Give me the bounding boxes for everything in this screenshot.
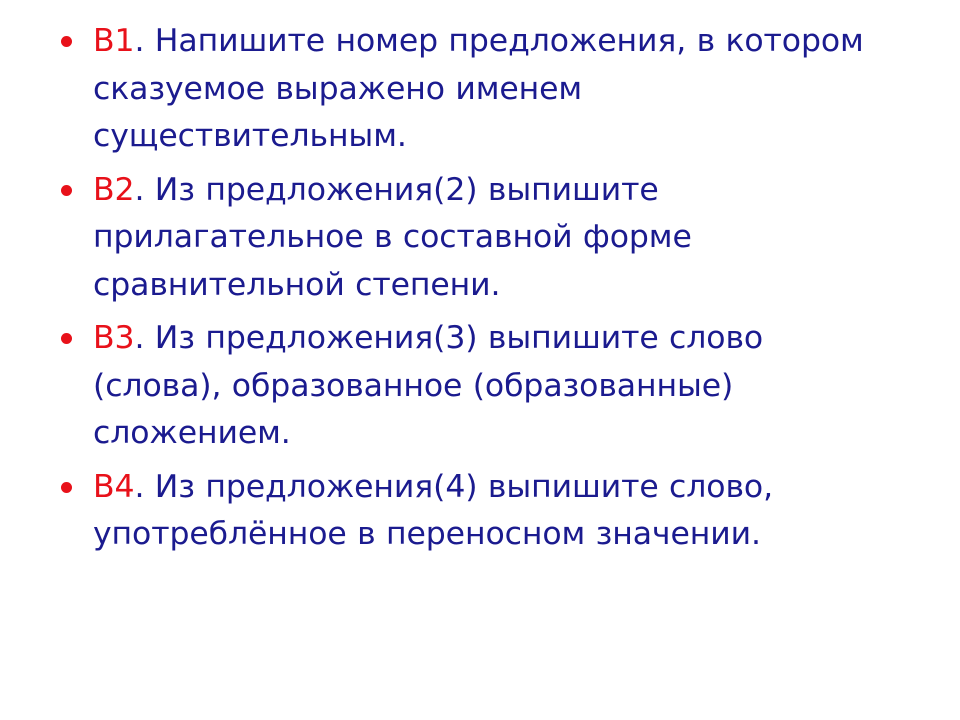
task-label-separator: . (134, 320, 144, 356)
list-item: B4. Из предложения(4) выпишите слово, уп… (46, 464, 883, 559)
task-label-b2: B2 (93, 172, 134, 208)
slide-canvas: B1. Напишите номер предложения, в которо… (0, 0, 960, 720)
task-label-b3: B3 (93, 320, 134, 356)
list-item: B2. Из предложения(2) выпишите прилагате… (46, 167, 883, 310)
round-bullet-icon (61, 185, 72, 196)
task-text-b4: Из предложения(4) выпишите слово, употре… (93, 469, 773, 553)
task-label-b1: B1 (93, 23, 134, 59)
round-bullet-icon (61, 36, 72, 47)
task-text-b2: Из предложения(2) выпишите прилагательно… (93, 172, 692, 303)
task-label-b4: B4 (93, 469, 134, 505)
task-label-separator: . (134, 469, 144, 505)
round-bullet-icon (61, 333, 72, 344)
task-text-b1: Напишите номер предложения, в котором ск… (93, 23, 864, 154)
round-bullet-icon (61, 482, 72, 493)
list-item: B3. Из предложения(3) выпишите слово (сл… (46, 315, 883, 458)
task-label-separator: . (134, 172, 144, 208)
list-item: B1. Напишите номер предложения, в которо… (46, 18, 883, 161)
task-text-b3: Из предложения(3) выпишите слово (слова)… (93, 320, 763, 451)
task-label-separator: . (134, 23, 144, 59)
task-list: B1. Напишите номер предложения, в которо… (46, 18, 900, 559)
